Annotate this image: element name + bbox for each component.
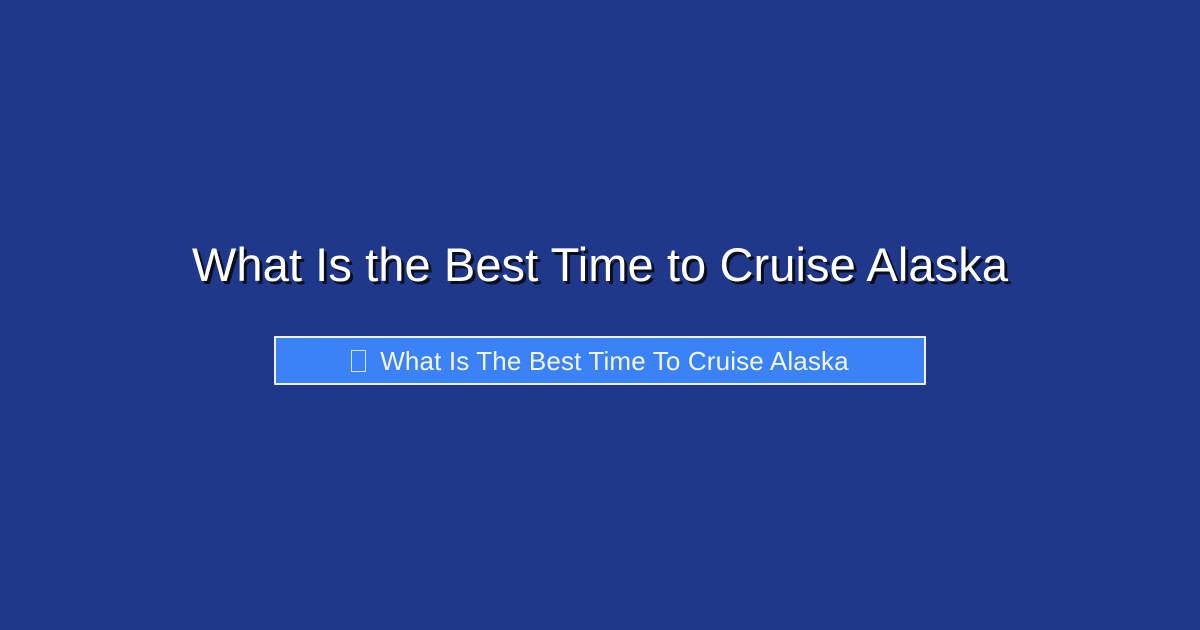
- cta-button[interactable]: What Is The Best Time To Cruise Alaska: [274, 336, 926, 385]
- card-content-stack: What Is the Best Time to Cruise Alaska W…: [0, 0, 1200, 630]
- social-share-card: What Is the Best Time to Cruise Alaska W…: [0, 0, 1200, 630]
- cta-button-label: What Is The Best Time To Cruise Alaska: [380, 348, 849, 374]
- missing-glyph-box-icon: [351, 350, 366, 372]
- page-title: What Is the Best Time to Cruise Alaska: [192, 240, 1008, 290]
